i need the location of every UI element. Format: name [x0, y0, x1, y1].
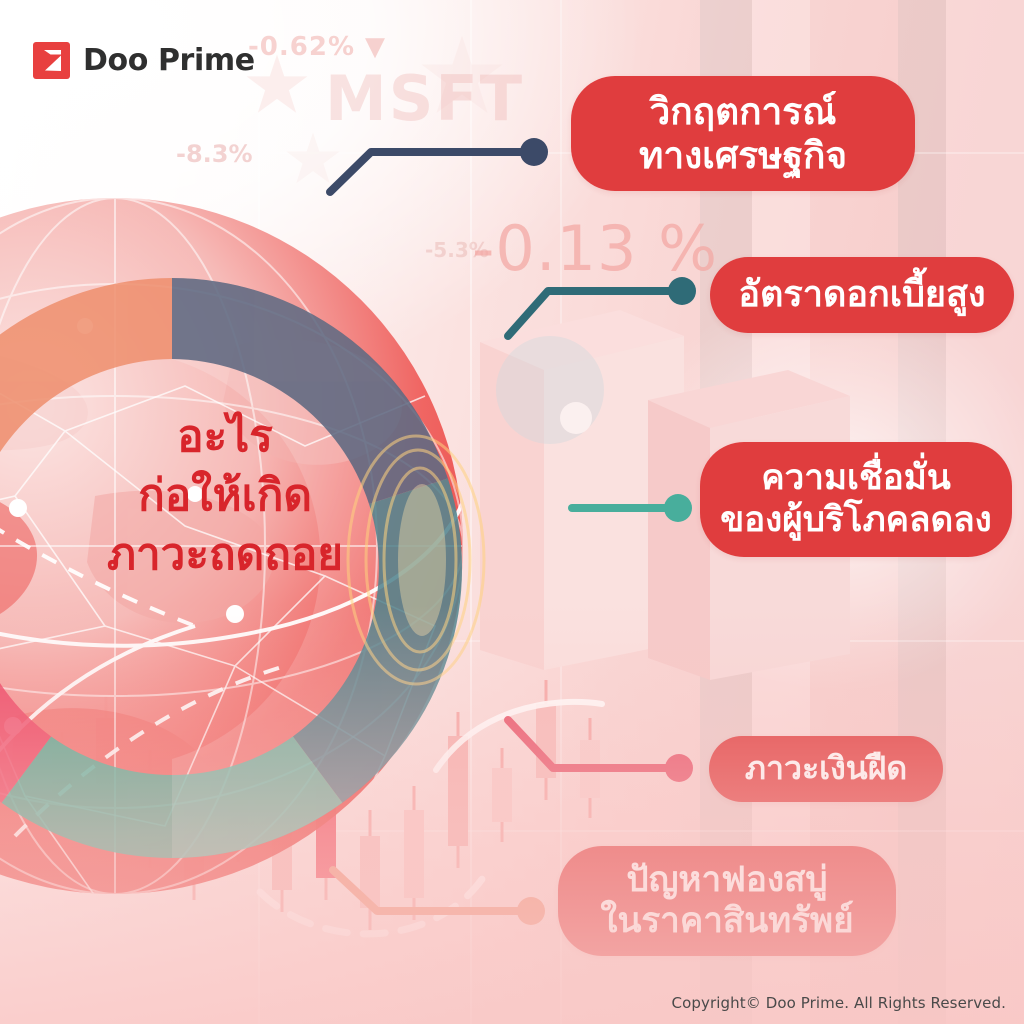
page-title-line-3: ภาวะถดถอย: [60, 526, 390, 585]
infographic-canvas: -0.62% ▼ MSFT -5.3% -8.3% -0.13 %: [0, 0, 1024, 1024]
brand-logo-text: Doo Prime: [83, 43, 255, 78]
callout-line-1: วิกฤตการณ์: [650, 90, 837, 134]
callout-line-1: อัตราดอกเบี้ยสูง: [738, 274, 985, 316]
page-title-line-2: ก่อให้เกิด: [60, 467, 390, 526]
brand-logo[interactable]: Doo Prime: [33, 42, 255, 79]
connector-consumer-confidence: [572, 494, 692, 522]
page-title-line-1: อะไร: [60, 408, 390, 467]
background-bottom-wash: [0, 604, 1024, 1024]
callout-line-2: ของผู้บริโภคลดลง: [720, 500, 992, 541]
connector-high-interest-rates: [508, 277, 696, 336]
callout-line-2: ทางเศรษฐกิจ: [639, 134, 847, 178]
callout-consumer-confidence[interactable]: ความเชื่อมั่น ของผู้บริโภคลดลง: [700, 442, 1012, 557]
connector-economic-crisis: [330, 138, 548, 192]
doo-prime-mark-icon: [33, 42, 70, 79]
copyright-text: Copyright© Doo Prime. All Rights Reserve…: [672, 994, 1006, 1012]
callout-line-1: ความเชื่อมั่น: [761, 458, 951, 499]
callout-economic-crisis[interactable]: วิกฤตการณ์ ทางเศรษฐกิจ: [571, 76, 915, 191]
page-title: อะไร ก่อให้เกิด ภาวะถดถอย: [60, 408, 390, 585]
callout-high-interest-rates[interactable]: อัตราดอกเบี้ยสูง: [710, 257, 1014, 333]
